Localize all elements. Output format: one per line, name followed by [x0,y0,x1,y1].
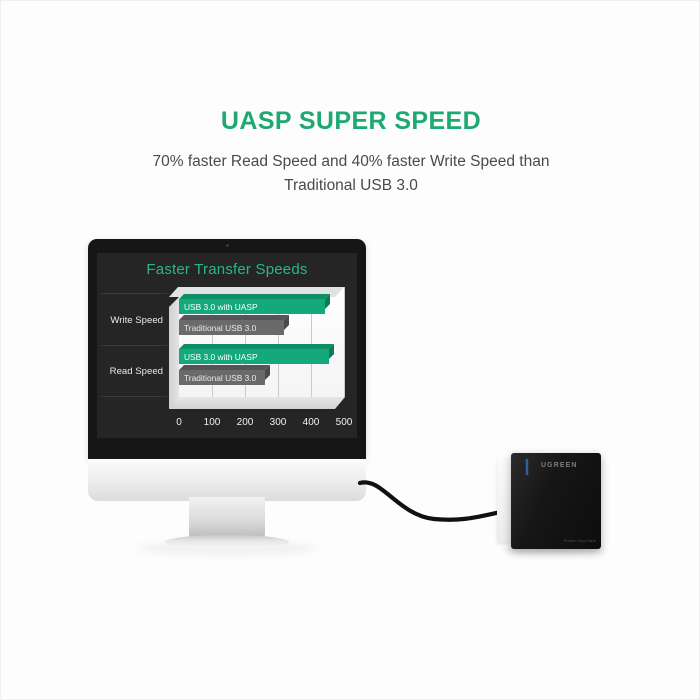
bar-label: USB 3.0 with UASP [179,349,329,364]
monitor-stand-foot [165,535,289,549]
chart-plot-area: USB 3.0 with UASP Traditional USB 3.0 US… [169,287,345,411]
chart-floor [169,397,345,409]
chart-title: Faster Transfer Speeds [97,261,357,278]
x-tick-400: 400 [303,417,320,428]
page-subtitle: 70% faster Read Speed and 40% faster Wri… [131,150,571,198]
x-tick-0: 0 [176,417,182,428]
bar-label: USB 3.0 with UASP [179,299,325,314]
brand-logo: UGREEN [541,462,578,469]
page-title: UASP SUPER SPEED [1,107,700,136]
bar-write-uasp: USB 3.0 with UASP [179,299,325,314]
bar-read-uasp: USB 3.0 with UASP [179,349,329,364]
chart-category-read-speed: Read Speed [97,366,163,377]
chart-wall-left [169,297,179,409]
bar-label: Traditional USB 3.0 [179,370,265,385]
product-feature-graphic: UASP SUPER SPEED 70% faster Read Speed a… [0,0,700,700]
status-led-icon [526,459,528,475]
x-tick-100: 100 [204,417,221,428]
headline-block: UASP SUPER SPEED 70% faster Read Speed a… [1,107,700,198]
bar-read-traditional: Traditional USB 3.0 [179,370,265,385]
drive-fine-print: Protect Your Data [564,539,596,543]
bar-write-traditional: Traditional USB 3.0 [179,320,284,335]
monitor: Faster Transfer Speeds Write Speed Read … [88,239,366,489]
external-hard-drive-enclosure: UGREEN Protect Your Data [497,453,601,549]
chart-axis-separator [101,396,167,397]
webcam-icon [226,244,229,247]
drive-body: UGREEN Protect Your Data [511,453,601,549]
chart-axis-separator [101,345,167,346]
chart-axis-separator [101,293,167,294]
x-tick-500: 500 [336,417,353,428]
monitor-bezel: Faster Transfer Speeds Write Speed Read … [88,239,366,461]
x-tick-200: 200 [237,417,254,428]
x-tick-300: 300 [270,417,287,428]
usb-cable [356,471,516,531]
monitor-screen: Faster Transfer Speeds Write Speed Read … [97,253,357,438]
bar-label: Traditional USB 3.0 [179,320,284,335]
monitor-chin [88,459,366,501]
monitor-stand-neck [189,497,265,539]
chart-category-write-speed: Write Speed [97,315,163,326]
